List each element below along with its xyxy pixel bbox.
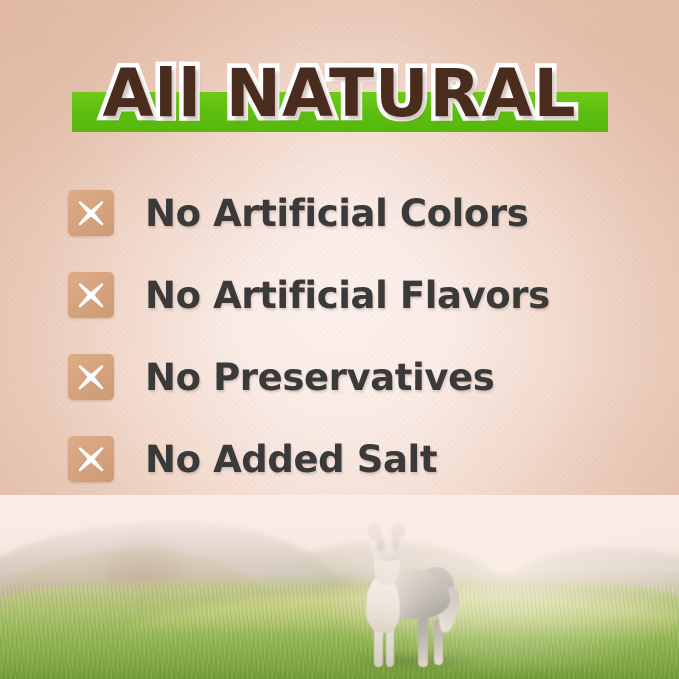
x-mark-icon: [68, 436, 114, 482]
dog-photo-subject: [352, 521, 464, 673]
list-item: No Added Salt: [68, 418, 628, 500]
x-mark-icon: [68, 272, 114, 318]
list-item-label: No Preservatives: [145, 356, 494, 399]
landscape-photo: [0, 495, 679, 679]
claims-list: No Artificial Colors No Artificial Flavo…: [68, 172, 628, 500]
x-mark-icon: [68, 190, 114, 236]
dog-ground-shadow: [338, 651, 488, 671]
list-item: No Artificial Flavors: [68, 254, 628, 336]
page-title: All NATURAL: [0, 48, 679, 140]
headline-banner: All NATURAL: [0, 48, 679, 140]
x-mark-icon: [68, 354, 114, 400]
list-item-label: No Added Salt: [145, 438, 437, 481]
all-natural-poster: All NATURAL No Artificial Colors No Arti…: [0, 0, 679, 679]
dog-hind-leg-left: [418, 617, 428, 667]
list-item: No Preservatives: [68, 336, 628, 418]
list-item: No Artificial Colors: [68, 172, 628, 254]
list-item-label: No Artificial Colors: [145, 192, 528, 235]
list-item-label: No Artificial Flavors: [145, 274, 550, 317]
dog-ear-right: [390, 521, 407, 541]
